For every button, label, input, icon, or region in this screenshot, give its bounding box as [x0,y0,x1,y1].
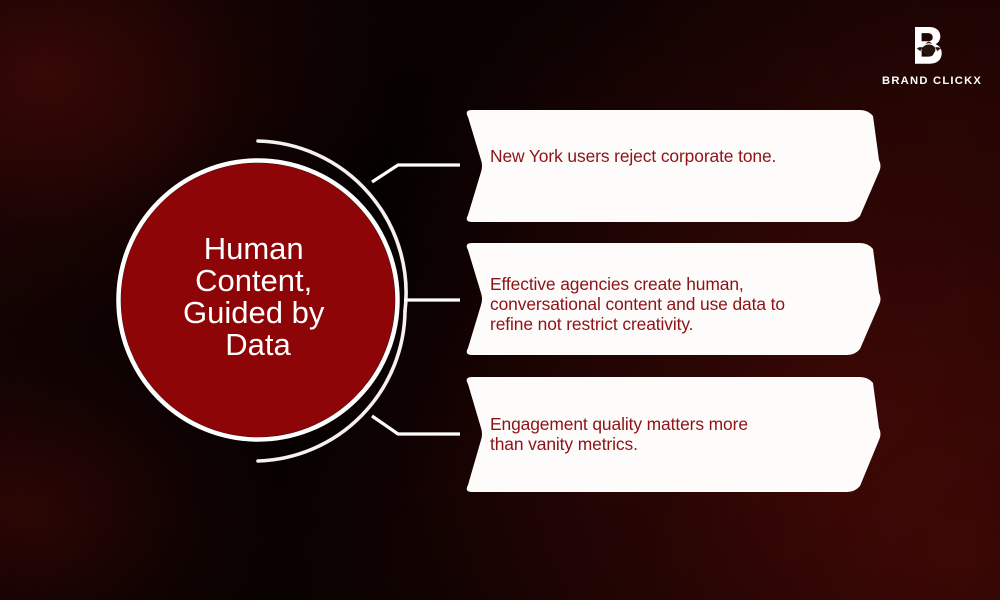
callout-text-2: Effective agencies create human, convers… [490,274,854,335]
letter-b-with-bull-icon [882,26,978,70]
hub-label-line-4: Data [225,327,291,362]
hub-label-line-3: Guided by [183,295,325,330]
hub-label-line-1: Human [204,231,304,266]
brand-wordmark: BRAND CLICKX [882,75,978,87]
connector-line-3 [372,416,460,434]
hub-label-line-2: Content, [195,263,312,298]
infographic-canvas: Human Content, Guided by Data New York u… [0,0,1000,600]
callout-text-1: New York users reject corporate tone. [490,146,840,166]
brand-logo: BRAND CLICKX [882,26,978,87]
connector-line-1 [372,165,460,182]
callout-text-3: Engagement quality matters more than van… [490,414,830,454]
